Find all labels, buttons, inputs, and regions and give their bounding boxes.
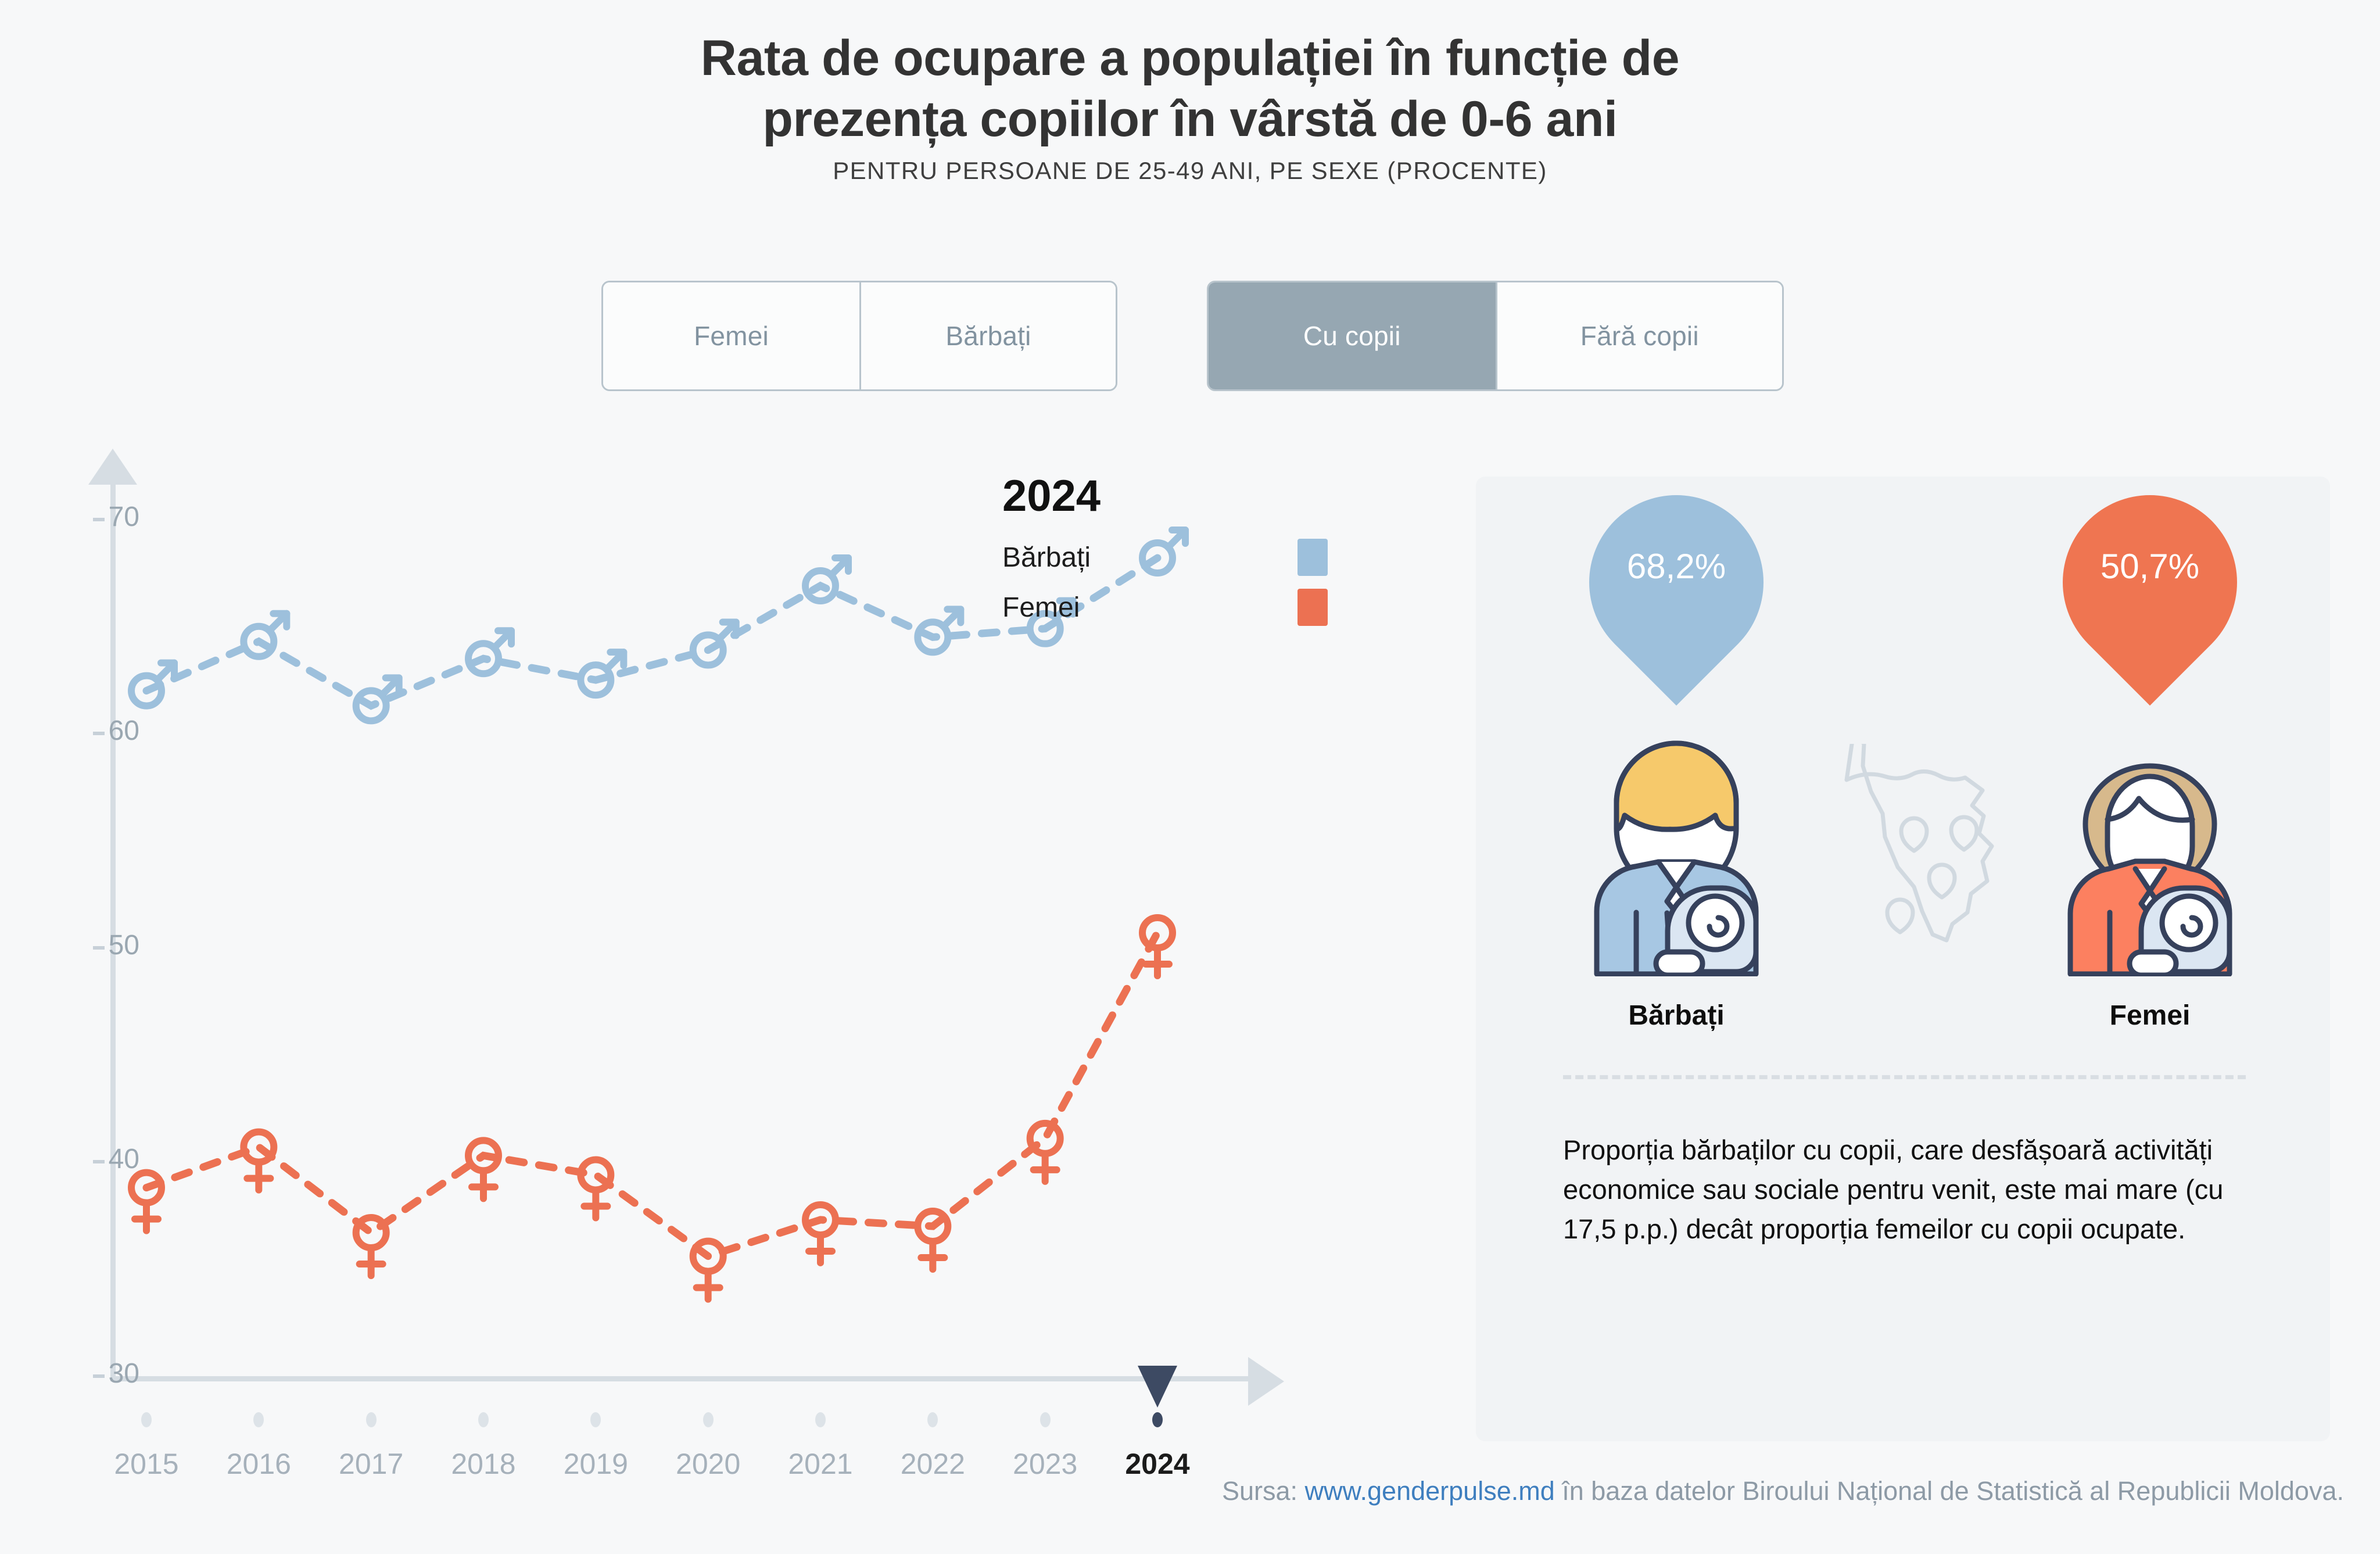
page-title-line-1: Rata de ocupare a populației în funcție … — [0, 28, 2380, 89]
series-line-femei — [146, 933, 1157, 1256]
toggle-option-cu-copii[interactable]: Cu copii — [1209, 282, 1496, 389]
x-axis-tick-dot[interactable] — [927, 1412, 938, 1427]
legend-item-barbati: Bărbați — [1002, 539, 1328, 576]
x-axis-tick-dot[interactable] — [141, 1412, 152, 1427]
x-axis-tick-dot[interactable] — [1152, 1412, 1163, 1427]
current-year-caret-icon — [1138, 1366, 1177, 1408]
venus-symbol-marker — [243, 1132, 274, 1190]
venus-symbol-marker — [1142, 918, 1173, 976]
venus-symbol-marker — [356, 1218, 386, 1276]
y-axis-tick-mark — [93, 518, 105, 521]
children-toggle-group[interactable]: Cu copii Fără copii — [1207, 281, 1784, 391]
mars-symbol-marker — [243, 614, 286, 657]
moldova-map-outline-icon — [1836, 744, 2010, 965]
chart-legend: 2024 Bărbați Femei — [1002, 471, 1328, 626]
x-axis-tick-dot[interactable] — [253, 1412, 264, 1427]
pin-male: 68,2% — [1589, 495, 1764, 716]
venus-symbol-marker — [693, 1241, 723, 1299]
legend-swatch-femei — [1297, 589, 1328, 626]
y-axis-tick-mark — [93, 1160, 105, 1163]
y-axis-tick-mark — [93, 946, 105, 950]
venus-symbol-marker — [917, 1211, 948, 1269]
y-axis-tick-mark — [93, 732, 105, 735]
x-axis-tick-dot[interactable] — [703, 1412, 714, 1427]
venus-symbol-marker — [131, 1173, 162, 1231]
pin-female: 50,7% — [2063, 495, 2237, 716]
page-subtitle: PENTRU PERSOANE DE 25-49 ANI, PE SEXE (P… — [0, 157, 2380, 185]
x-axis-tick-dot[interactable] — [815, 1412, 826, 1427]
pin-value-male: 68,2% — [1589, 546, 1764, 586]
source-link[interactable]: www.genderpulse.md — [1305, 1476, 1555, 1506]
venus-symbol-marker — [580, 1160, 611, 1218]
page-title-line-2: prezența copiilor în vârstă de 0-6 ani — [0, 89, 2380, 150]
venus-symbol-marker — [468, 1140, 499, 1198]
toggle-option-fara-copii[interactable]: Fără copii — [1496, 282, 1783, 389]
man-with-baby-icon — [1580, 726, 1772, 976]
figure-label-femei: Femei — [2016, 1000, 2284, 1032]
page-title: Rata de ocupare a populației în funcție … — [0, 28, 2380, 150]
panel-note: Proporția bărbaților cu copii, care desf… — [1563, 1130, 2278, 1249]
x-axis-tick-dot[interactable] — [478, 1412, 489, 1427]
panel-divider — [1563, 1075, 2246, 1079]
summary-panel: 68,2% 50,7% — [1476, 477, 2330, 1441]
x-axis — [110, 1376, 1261, 1381]
toggle-option-femei[interactable]: Femei — [603, 282, 859, 389]
legend-label-barbati: Bărbați — [1002, 542, 1091, 574]
source-suffix: în baza datelor Biroului Național de Sta… — [1555, 1476, 2344, 1506]
toggle-option-barbati[interactable]: Bărbați — [859, 282, 1116, 389]
figure-label-barbati: Bărbați — [1543, 1000, 1810, 1032]
woman-with-baby-icon — [2054, 726, 2246, 976]
source-footer: Sursa: www.genderpulse.md în baza datelo… — [0, 1476, 2380, 1506]
y-axis-tick-mark — [93, 1374, 105, 1378]
legend-item-femei: Femei — [1002, 589, 1328, 626]
legend-label-femei: Femei — [1002, 592, 1080, 624]
x-axis-tick-dot[interactable] — [366, 1412, 377, 1427]
sex-toggle-group[interactable]: Femei Bărbați — [601, 281, 1117, 391]
infographic-page: Rata de ocupare a populației în funcție … — [0, 0, 2380, 1554]
x-axis-tick-dot[interactable] — [590, 1412, 601, 1427]
legend-swatch-barbati — [1297, 539, 1328, 576]
venus-symbol-marker — [805, 1205, 836, 1263]
legend-year: 2024 — [1002, 471, 1328, 521]
source-prefix: Sursa: — [1222, 1476, 1305, 1506]
mars-symbol-marker — [468, 631, 511, 674]
pin-value-female: 50,7% — [2063, 546, 2237, 586]
x-axis-tick-dot[interactable] — [1040, 1412, 1051, 1427]
